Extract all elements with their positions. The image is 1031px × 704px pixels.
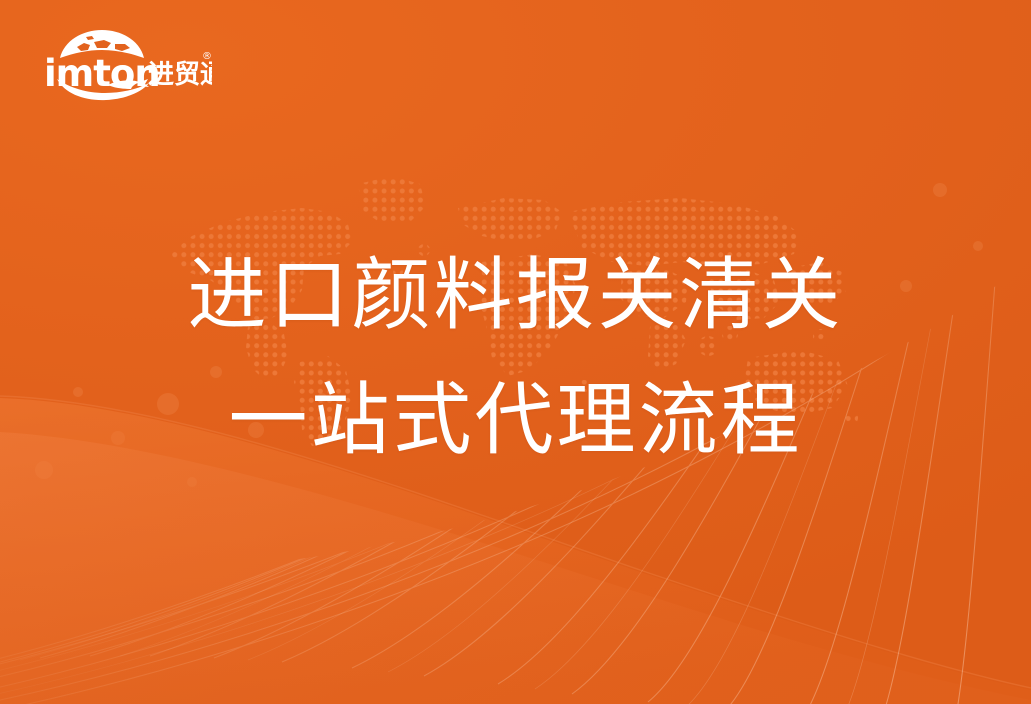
logo-trademark-symbol: ® <box>202 51 212 62</box>
banner-title-line-1: 进口颜料报关清关 <box>0 256 1031 335</box>
brand-logo[interactable]: imton 进贸通 ® <box>42 27 212 103</box>
banner-canvas: imton 进贸通 ® 进口颜料报关清关 一站式代理流程 <box>0 0 1031 704</box>
logo-latin-text: imton <box>44 52 160 95</box>
banner-title: 进口颜料报关清关 一站式代理流程 <box>0 256 1031 460</box>
banner-title-line-2: 一站式代理流程 <box>0 381 1031 460</box>
logo-chinese-text: 进贸通 <box>148 60 212 90</box>
